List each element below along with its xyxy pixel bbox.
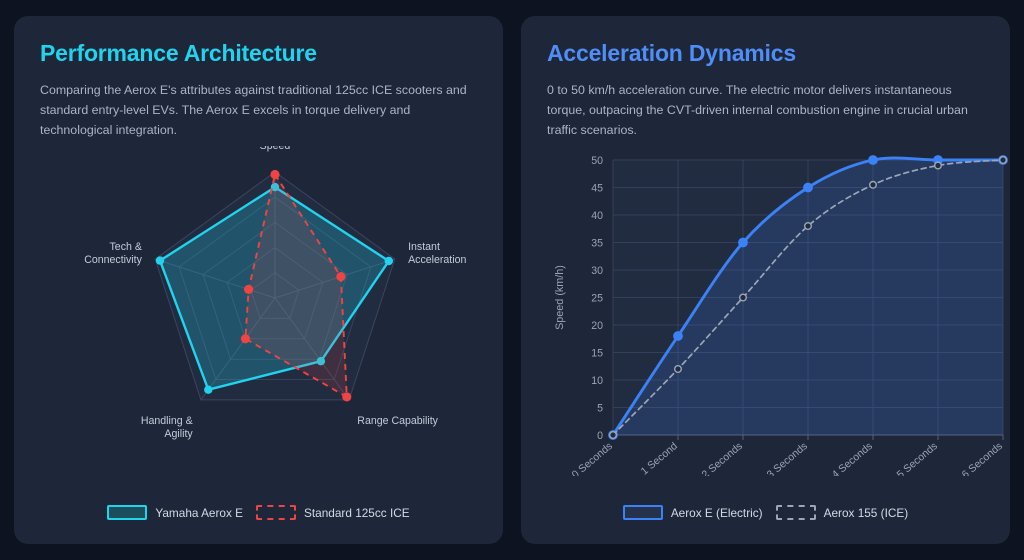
y-tick-label: 45 [591, 183, 603, 195]
y-tick-label: 10 [591, 375, 603, 387]
radar-chart-svg[interactable]: Maximum TopSpeedInstantAccelerationRange… [40, 146, 503, 466]
x-tick-label: 2 Seconds [700, 441, 745, 476]
line-legend: Aerox E (Electric) Aerox 155 (ICE) [547, 505, 984, 530]
right-panel-description: 0 to 50 km/h acceleration curve. The ele… [547, 80, 984, 140]
line-data-point[interactable] [739, 239, 747, 247]
y-tick-label: 20 [591, 320, 603, 332]
legend-item-aerox-155-ice[interactable]: Aerox 155 (ICE) [776, 505, 909, 520]
legend-item-aerox-e-electric[interactable]: Aerox E (Electric) [623, 505, 763, 520]
line-data-point[interactable] [740, 294, 747, 301]
legend-label: Aerox 155 (ICE) [824, 506, 909, 520]
y-tick-label: 5 [597, 403, 603, 415]
y-tick-label: 35 [591, 238, 603, 250]
y-axis-title: Speed (km/h) [554, 265, 566, 330]
legend-item-aerox-e[interactable]: Yamaha Aerox E [107, 505, 243, 520]
dashboard-page: Performance Architecture Comparing the A… [0, 0, 1024, 560]
radar-axis-label: Tech &Connectivity [84, 241, 142, 266]
performance-architecture-card: Performance Architecture Comparing the A… [14, 16, 503, 544]
line-chart-svg[interactable]: 051015202530354045500 Seconds1 Second2 S… [547, 146, 1010, 476]
x-tick-label: 1 Second [639, 441, 680, 476]
legend-swatch-icon [256, 505, 296, 520]
legend-swatch-icon [107, 505, 147, 520]
x-tick-label: 0 Seconds [570, 441, 615, 476]
x-tick-label: 6 Seconds [960, 441, 1005, 476]
radar-axis-label: Handling &Agility [141, 415, 194, 440]
legend-label: Aerox E (Electric) [671, 506, 763, 520]
radar-data-point[interactable] [204, 386, 212, 394]
legend-swatch-icon [623, 505, 663, 520]
radar-axis-label: InstantAcceleration [408, 241, 466, 266]
radar-axis-label: Range Capability [357, 415, 438, 427]
page-title: Acceleration Dynamics [547, 40, 984, 67]
y-tick-label: 25 [591, 293, 603, 305]
line-data-point[interactable] [870, 182, 877, 189]
y-tick-label: 50 [591, 155, 603, 167]
line-data-point[interactable] [869, 156, 877, 164]
radar-data-point[interactable] [244, 285, 253, 294]
x-tick-label: 5 Seconds [895, 441, 940, 476]
x-tick-label: 4 Seconds [830, 441, 875, 476]
radar-legend: Yamaha Aerox E Standard 125cc ICE [40, 505, 477, 530]
radar-axis-label: Maximum TopSpeed [242, 146, 308, 152]
radar-data-point[interactable] [241, 334, 250, 343]
line-data-point[interactable] [935, 162, 942, 169]
line-data-point[interactable] [804, 184, 812, 192]
radar-chart[interactable]: Maximum TopSpeedInstantAccelerationRange… [40, 146, 477, 507]
radar-data-point[interactable] [156, 257, 164, 265]
line-data-point[interactable] [610, 432, 617, 439]
line-data-point[interactable] [1000, 157, 1007, 164]
page-title: Performance Architecture [40, 40, 477, 67]
y-tick-label: 15 [591, 348, 603, 360]
radar-data-point[interactable] [270, 170, 279, 179]
x-tick-label: 3 Seconds [765, 441, 810, 476]
line-data-point[interactable] [675, 366, 682, 373]
radar-data-point[interactable] [336, 272, 345, 281]
legend-swatch-icon [776, 505, 816, 520]
line-data-point[interactable] [805, 223, 812, 230]
y-tick-label: 30 [591, 265, 603, 277]
line-data-point[interactable] [674, 332, 682, 340]
radar-data-point[interactable] [385, 257, 393, 265]
acceleration-dynamics-card: Acceleration Dynamics 0 to 50 km/h accel… [521, 16, 1010, 544]
legend-label: Standard 125cc ICE [304, 506, 410, 520]
y-tick-label: 0 [597, 430, 603, 442]
acceleration-line-chart[interactable]: 051015202530354045500 Seconds1 Second2 S… [547, 146, 984, 507]
y-tick-label: 40 [591, 210, 603, 222]
legend-item-125cc-ice[interactable]: Standard 125cc ICE [256, 505, 410, 520]
radar-data-point[interactable] [342, 393, 351, 402]
legend-label: Yamaha Aerox E [155, 506, 243, 520]
left-panel-description: Comparing the Aerox E's attributes again… [40, 80, 477, 140]
